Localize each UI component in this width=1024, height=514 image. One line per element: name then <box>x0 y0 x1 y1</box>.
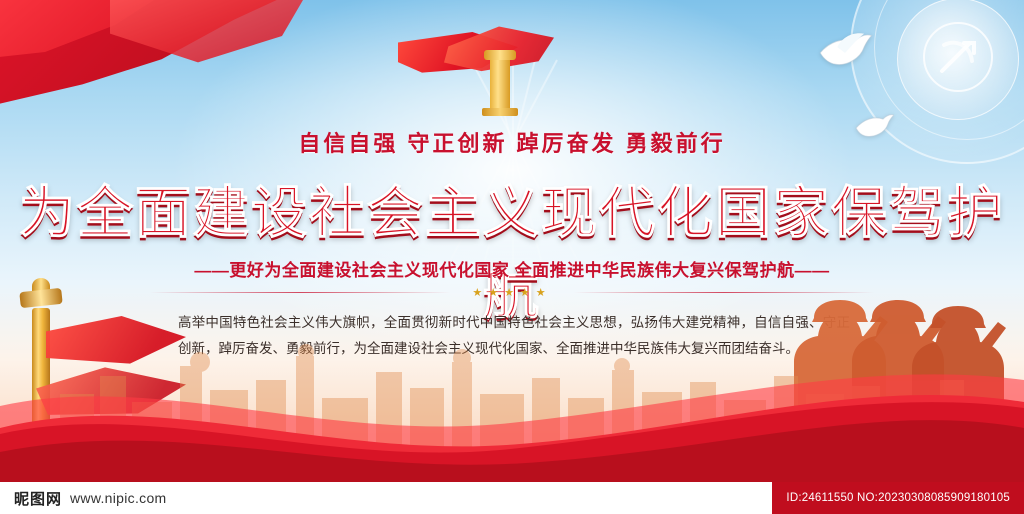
party-emblem-inner-icon <box>897 0 1019 120</box>
site-logo: 昵图网 <box>14 488 62 509</box>
poster-canvas: 自信自强 守正创新 踔厉奋发 勇毅前行 为全面建设社会主义现代化国家保驾护航 —… <box>0 0 1024 514</box>
poster-subtitle-top: 自信自强 守正创新 踔厉奋发 勇毅前行 <box>0 126 1024 158</box>
huabiao-column-icon <box>490 58 510 110</box>
footer-bar: 昵图网 www.nipic.com ID:24611550 NO:2023030… <box>0 482 1024 514</box>
hammer-sickle-icon <box>898 0 1018 119</box>
center-flag-group <box>398 24 548 110</box>
site-url[interactable]: www.nipic.com <box>70 490 166 506</box>
image-id-label: ID:24611550 NO:20230308085909180105 <box>772 482 1024 514</box>
dove-icon <box>816 28 874 70</box>
huabiao-cap <box>19 288 62 308</box>
footer-left: 昵图网 www.nipic.com <box>0 488 772 509</box>
red-ribbon-shape <box>0 336 1024 486</box>
